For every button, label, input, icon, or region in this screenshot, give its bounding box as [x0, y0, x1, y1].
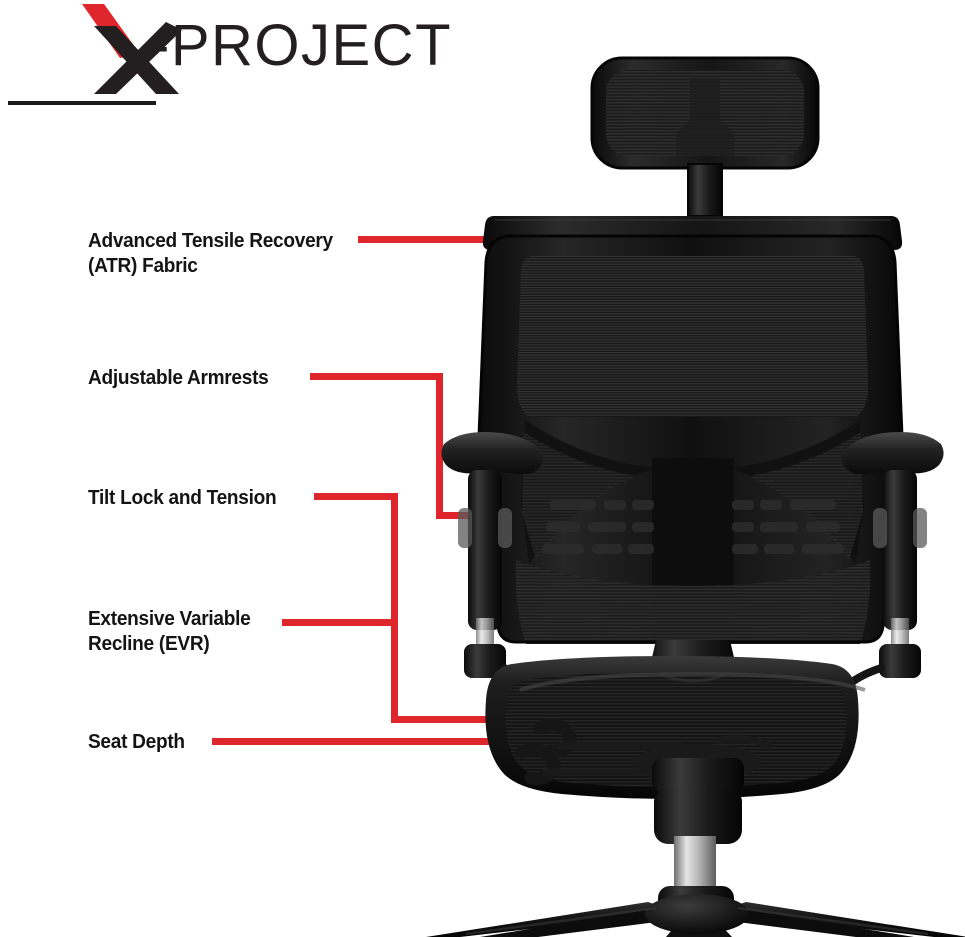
callout-label-atr-fabric: Advanced Tensile Recovery (ATR) Fabric	[88, 228, 348, 278]
chair-headrest	[592, 58, 818, 216]
leader-line-tilt-horizontal	[314, 493, 398, 500]
chair-mechanism-housing	[634, 744, 762, 792]
office-chair-product-image	[420, 40, 965, 937]
brand-wordmark-text: -PROJECT	[150, 16, 452, 78]
infographic-page: -PROJECT Advanced Tensile Recovery (ATR)…	[0, 0, 965, 937]
chair-five-star-base	[426, 894, 965, 937]
brand-divider-rule	[8, 101, 156, 105]
leader-line-evr-horizontal	[282, 619, 398, 626]
chair-backrest-mesh	[479, 236, 902, 644]
leader-line-tilt-vertical	[391, 493, 398, 723]
callout-label-extensive-variable-recline: Extensive Variable Recline (EVR)	[88, 606, 348, 656]
